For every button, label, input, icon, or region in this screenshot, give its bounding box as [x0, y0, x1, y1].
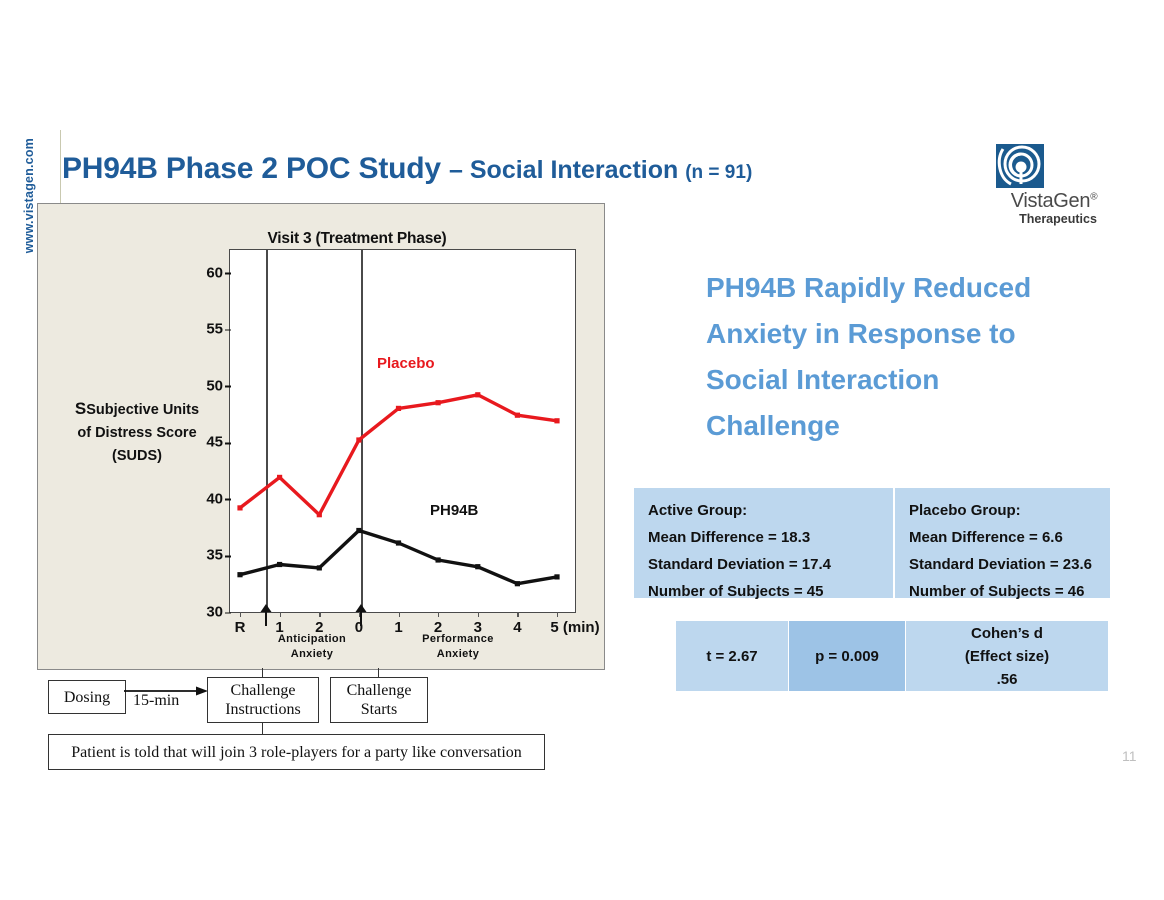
x-tick-mark: [517, 612, 518, 617]
page-title-sub: Social Interaction: [470, 156, 685, 184]
logo-subtitle: Therapeutics: [988, 212, 1128, 226]
series-lines: [230, 250, 575, 612]
series-line-ph94b: [240, 531, 557, 584]
placebo-group-standard-deviation: Standard Deviation = 23.6: [909, 551, 1110, 578]
data-point: [515, 581, 520, 586]
x-tick-mark: [438, 612, 439, 617]
logo-wordmark: VistaGen®: [988, 190, 1120, 213]
series-label-placebo: Placebo: [377, 355, 435, 372]
y-axis-label: SSubjective Units of Distress Score (SUD…: [46, 397, 228, 468]
data-point: [356, 528, 361, 533]
cohens-d-line3: .56: [965, 668, 1049, 691]
data-point: [317, 512, 322, 517]
page-title-dash: –: [449, 156, 470, 184]
phase-label-performance-line1: Performance: [378, 632, 538, 647]
logo-wordmark-text: VistaGen: [1011, 190, 1091, 212]
placebo-group-heading: Placebo Group:: [909, 497, 1110, 524]
flow-starts-line2: Starts: [347, 700, 412, 719]
flow-box-patient-note: Patient is told that will join 3 role-pl…: [48, 734, 545, 770]
active-group-heading: Active Group:: [648, 497, 893, 524]
flow-instructions-line2: Instructions: [225, 700, 301, 719]
y-tick-50: 50: [206, 377, 223, 394]
result-cell-p-value: p = 0.009: [789, 621, 905, 691]
x-tick-mark: [319, 612, 320, 617]
data-point: [237, 505, 242, 510]
placebo-group-mean-difference: Mean Difference = 6.6: [909, 524, 1110, 551]
phase-label-performance-line2: Anxiety: [378, 647, 538, 662]
stat-box-placebo-group: Placebo Group: Mean Difference = 6.6 Sta…: [895, 488, 1110, 598]
y-tick-60: 60: [206, 264, 223, 281]
cohens-d-line1: Cohen’s d: [965, 622, 1049, 645]
page-title-n: (n = 91): [685, 162, 752, 183]
data-point: [475, 564, 480, 569]
flow-box-challenge-instructions[interactable]: Challenge Instructions: [207, 677, 319, 723]
registered-mark-icon: ®: [1090, 191, 1097, 202]
data-point: [554, 418, 559, 423]
active-group-mean-difference: Mean Difference = 18.3: [648, 524, 893, 551]
stat-box-active-group: Active Group: Mean Difference = 18.3 Sta…: [634, 488, 893, 598]
x-tick-R: R: [235, 619, 246, 636]
active-group-standard-deviation: Standard Deviation = 17.4: [648, 551, 893, 578]
slide-root: www.vistagen.com PH94B Phase 2 POC Study…: [0, 0, 1164, 900]
website-url-vertical: www.vistagen.com: [22, 138, 36, 253]
data-point: [436, 400, 441, 405]
plot-area: 30354045505560 R12012345 (min) Placebo P…: [229, 249, 576, 613]
y-tick-35: 35: [206, 547, 223, 564]
data-point: [436, 557, 441, 562]
x-tick-5: 5 (min): [550, 619, 599, 636]
y-tick-45: 45: [206, 434, 223, 451]
vistagen-logo: VistaGen® Therapeutics: [988, 144, 1128, 226]
flow-interval-label: 15-min: [133, 692, 179, 710]
cohens-d-line2: (Effect size): [965, 645, 1049, 668]
flow-box-challenge-starts[interactable]: Challenge Starts: [330, 677, 428, 723]
data-point: [317, 565, 322, 570]
series-line-placebo: [240, 395, 557, 515]
x-tick-mark: [240, 612, 241, 617]
y-axis-label-line2: of Distress Score: [46, 422, 228, 445]
phase-label-anticipation-line1: Anticipation: [262, 632, 362, 647]
data-point: [515, 413, 520, 418]
phase-label-anticipation: Anticipation Anxiety: [262, 632, 362, 662]
data-point: [356, 437, 361, 442]
flow-instructions-line1: Challenge: [225, 681, 301, 700]
placebo-group-number-of-subjects: Number of Subjects = 46: [909, 578, 1110, 605]
vistagen-mark-icon: [996, 144, 1044, 188]
page-title: PH94B Phase 2 POC Study – Social Interac…: [62, 152, 752, 186]
x-tick-mark: [478, 612, 479, 617]
flow-box-dosing[interactable]: Dosing: [48, 680, 126, 714]
series-label-ph94b: PH94B: [430, 502, 478, 519]
headline-text: PH94B Rapidly Reduced Anxiety in Respons…: [706, 265, 1076, 449]
data-point: [237, 572, 242, 577]
y-tick-40: 40: [206, 490, 223, 507]
phase-label-performance: Performance Anxiety: [378, 632, 538, 662]
data-point: [475, 392, 480, 397]
result-cell-cohens-d: Cohen’s d (Effect size) .56: [906, 621, 1108, 691]
flow-starts-line1: Challenge: [347, 681, 412, 700]
page-title-main: PH94B Phase 2 POC Study: [62, 152, 449, 185]
y-tick-30: 30: [206, 604, 223, 621]
performance-arrow-icon: [354, 604, 368, 626]
result-cell-t-value: t = 2.67: [676, 621, 788, 691]
data-point: [554, 574, 559, 579]
y-axis-label-line3: (SUDS): [46, 445, 228, 468]
x-tick-mark: [280, 612, 281, 617]
y-axis-label-line1: Subjective Units: [86, 402, 199, 418]
data-point: [396, 540, 401, 545]
data-point: [277, 475, 282, 480]
phase-label-anticipation-line2: Anxiety: [262, 647, 362, 662]
x-tick-mark: [399, 612, 400, 617]
anticipation-arrow-icon: [259, 604, 273, 626]
x-tick-mark: [557, 612, 558, 617]
data-point: [396, 406, 401, 411]
active-group-number-of-subjects: Number of Subjects = 45: [648, 578, 893, 605]
data-point: [277, 562, 282, 567]
chart-panel: Visit 3 (Treatment Phase) SSubjective Un…: [37, 203, 605, 670]
chart-title: Visit 3 (Treatment Phase): [38, 230, 604, 248]
page-number: 11: [1122, 748, 1137, 764]
y-tick-55: 55: [206, 321, 223, 338]
